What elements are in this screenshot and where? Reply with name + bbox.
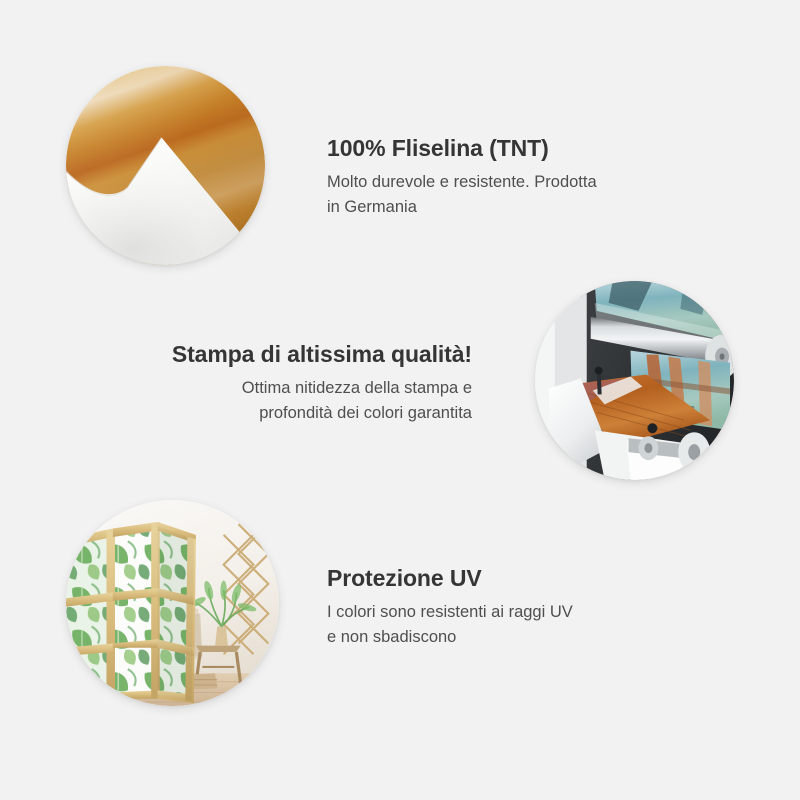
product-features-infographic: 100% Fliselina (TNT) Molto durevole e re… xyxy=(0,0,800,800)
feature-image-fliselina xyxy=(66,66,265,265)
feature-title-protezione-uv: Protezione UV xyxy=(327,564,727,593)
feature-description-line-1: I colori sono resistenti ai raggi UV xyxy=(327,603,573,621)
feature-title-fliselina: 100% Fliselina (TNT) xyxy=(327,134,727,163)
feature-description-protezione-uv: I colori sono resistenti ai raggi UV e n… xyxy=(327,600,727,650)
feature-text-stampa-qualita: Stampa di altissima qualità! Ottima niti… xyxy=(110,340,472,426)
feature-description-line-1: Ottima nitidezza della stampa e xyxy=(242,379,472,397)
feature-title-stampa-qualita: Stampa di altissima qualità! xyxy=(110,340,472,369)
feature-description-stampa-qualita: Ottima nitidezza della stampa e profondi… xyxy=(110,376,472,426)
feature-description-line-1: Molto durevole e resistente. Prodotta xyxy=(327,173,597,191)
feature-description-line-2: in Germania xyxy=(327,198,417,216)
feature-text-protezione-uv: Protezione UV I colori sono resistenti a… xyxy=(327,564,727,650)
feature-description-line-2: e non sbadiscono xyxy=(327,628,456,646)
feature-image-protezione-uv xyxy=(66,500,279,706)
feature-text-fliselina: 100% Fliselina (TNT) Molto durevole e re… xyxy=(327,134,727,220)
feature-image-stampa-qualita xyxy=(535,281,734,480)
feature-description-fliselina: Molto durevole e resistente. Prodotta in… xyxy=(327,170,727,220)
feature-description-line-2: profondità dei colori garantita xyxy=(259,404,472,422)
tropical-room-divider-photo xyxy=(66,500,279,706)
printing-press-machine-photo xyxy=(535,281,734,480)
wallpaper-roll-peel-photo xyxy=(66,66,265,265)
